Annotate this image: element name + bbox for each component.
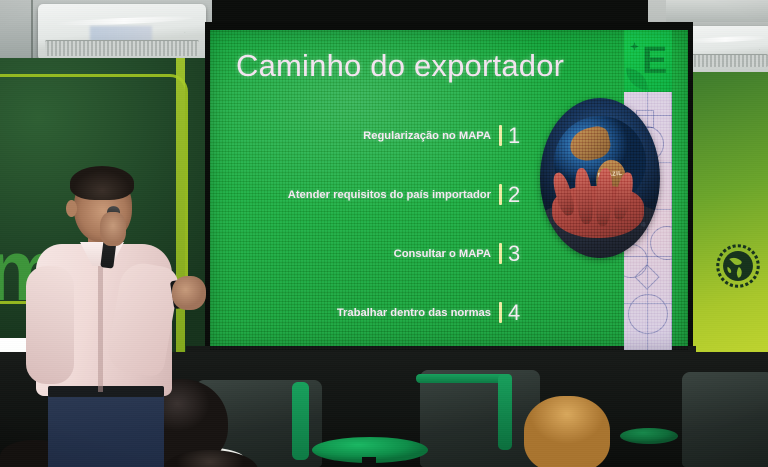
slide-logo: E (624, 30, 672, 92)
presentation-scene: · · m CAIXA syngenta (0, 0, 768, 467)
chair-trim (292, 382, 309, 460)
ac-gloss-left (55, 15, 193, 27)
hands-holding-globe-photo: BRAZIL (540, 98, 660, 258)
bullet-number: 3 (508, 243, 526, 265)
chair-center (420, 370, 540, 467)
presenter-arm-left (26, 266, 74, 384)
ac-vent-right (680, 54, 768, 67)
logo-monogram: E (642, 42, 667, 80)
round-table-center (312, 437, 428, 463)
bullet-label: Consultar o MAPA (236, 248, 499, 260)
presenter-belt (48, 386, 164, 397)
ac-brand-right: · (759, 47, 761, 52)
presenter (22, 168, 218, 458)
decor-circle (628, 294, 668, 334)
bullet-accent-bar (499, 125, 502, 146)
bullet-label: Trabalhar dentro das normas (236, 307, 499, 319)
globe-gear-emblem (716, 244, 760, 288)
presenter-ear (66, 200, 77, 217)
presenter-hand-holding-clicker (172, 276, 206, 310)
round-table-right (620, 428, 678, 444)
bullet-accent-bar (499, 243, 502, 264)
presenter-shirt-placket (98, 264, 103, 392)
sleeve-button (641, 222, 646, 227)
slide-bullet-list: Regularização no MAPA 1 Atender requisit… (236, 106, 526, 342)
chair-trim-side (498, 374, 512, 450)
ac-gloss-right (686, 36, 765, 44)
ac-unit-left: · (38, 4, 206, 62)
audience-member-front-center (524, 396, 610, 467)
continent-north-america (567, 124, 613, 164)
ac-brand-left: · (184, 30, 186, 35)
ceiling-band (666, 0, 768, 22)
table-leg (362, 457, 376, 467)
bullet-accent-bar (499, 302, 502, 323)
presenter-legs (48, 390, 164, 467)
bullet-label: Regularização no MAPA (236, 130, 499, 142)
presenter-hair (70, 166, 134, 200)
wall-seam (31, 0, 33, 62)
bullet-number: 1 (508, 125, 526, 147)
chair-right (682, 372, 768, 467)
slide-bullet-item: Consultar o MAPA 3 (236, 224, 526, 283)
bullet-accent-bar (499, 184, 502, 205)
bullet-number: 4 (508, 302, 526, 324)
bullet-number: 2 (508, 184, 526, 206)
slide-title: Caminho do exportador (236, 48, 564, 84)
slide-bullet-item: Atender requisitos do país importador 2 (236, 165, 526, 224)
presenter-hand-holding-microphone (100, 212, 126, 246)
bullet-label: Atender requisitos do país importador (236, 189, 499, 201)
led-screen: E BRAZIL Caminho do exportador Regulariz… (210, 30, 688, 350)
slide-bullet-item: Regularização no MAPA 1 (236, 106, 526, 165)
ac-vent-left (45, 40, 200, 56)
slide-bullet-item: Trabalhar dentro das normas 4 (236, 283, 526, 342)
sparkle-icon (630, 42, 639, 51)
